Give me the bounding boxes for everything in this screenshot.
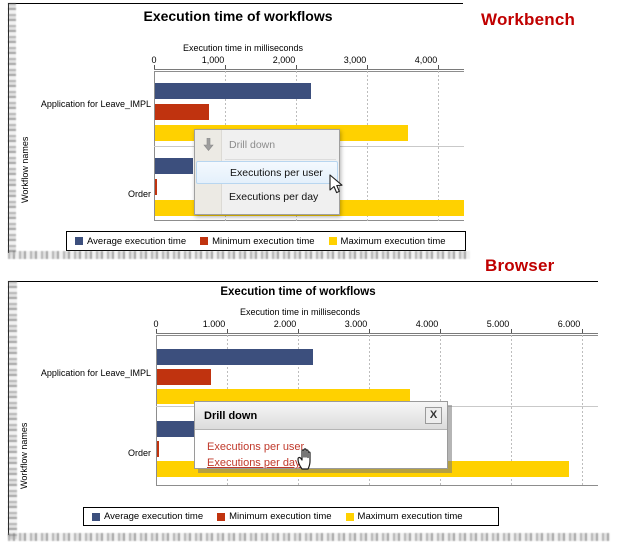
dialog-header: Drill down X xyxy=(195,402,447,430)
x-tick-label: 3,000 xyxy=(335,55,375,65)
drill-down-dialog[interactable]: Drill down X Executions per user Executi… xyxy=(194,401,448,469)
legend-label: Maximum execution time xyxy=(358,511,463,522)
torn-bottom-edge xyxy=(8,533,610,541)
x-tick-label: 0 xyxy=(139,55,169,65)
bar-minimum-2[interactable] xyxy=(157,441,159,457)
x-tickmark xyxy=(296,65,297,69)
legend-item-average: Average execution time xyxy=(92,511,203,522)
bar-average-1[interactable] xyxy=(155,83,311,99)
x-tickmark xyxy=(367,65,368,69)
category-label: Application for Leave_IMPL xyxy=(18,99,151,109)
down-arrow-icon xyxy=(203,138,214,151)
workbench-panel: Execution time of workflows Execution ti… xyxy=(8,3,466,255)
x-tick-label: 1,000 xyxy=(193,55,233,65)
context-menu-item-executions-per-day[interactable]: Executions per day xyxy=(195,184,339,209)
x-tickmark xyxy=(298,329,299,333)
legend-swatch-icon xyxy=(329,237,337,245)
context-menu-item-executions-per-user[interactable]: Executions per user xyxy=(196,161,338,184)
context-menu-label: Executions per user xyxy=(230,167,323,179)
torn-bottom-edge xyxy=(8,251,470,259)
drill-down-context-menu[interactable]: Drill down Executions per user Execution… xyxy=(194,129,340,215)
bar-average-2[interactable] xyxy=(157,421,195,437)
workbench-caption: Workbench xyxy=(481,10,575,30)
chart-legend: Average execution time Minimum execution… xyxy=(66,231,466,251)
chart-title: Execution time of workflows xyxy=(38,8,438,24)
torn-right-edge xyxy=(8,281,17,539)
chart-legend: Average execution time Minimum execution… xyxy=(83,507,499,526)
dialog-title: Drill down xyxy=(204,410,257,422)
legend-item-average: Average execution time xyxy=(75,236,186,247)
link-executions-per-user[interactable]: Executions per user xyxy=(207,439,447,455)
bar-minimum-1[interactable] xyxy=(155,104,209,120)
gridline xyxy=(582,335,583,486)
x-tick-label: 6.000 xyxy=(549,319,589,329)
link-executions-per-day[interactable]: Executions per day xyxy=(207,455,447,471)
legend-swatch-icon xyxy=(217,513,225,521)
x-tickmark xyxy=(440,329,441,333)
x-tick-label: 0 xyxy=(141,319,171,329)
legend-item-minimum: Minimum execution time xyxy=(200,236,314,247)
close-icon[interactable]: X xyxy=(425,407,442,424)
x-tickmark xyxy=(154,65,155,69)
legend-item-maximum: Maximum execution time xyxy=(346,511,463,522)
x-tickmark xyxy=(225,65,226,69)
legend-swatch-icon xyxy=(200,237,208,245)
x-tickmark xyxy=(511,329,512,333)
x-tick-label: 2,000 xyxy=(264,55,304,65)
category-label: Application for Leave_IMPL xyxy=(16,368,151,378)
torn-right-edge xyxy=(8,3,16,255)
context-menu-label: Executions per day xyxy=(229,191,318,203)
x-axis-line xyxy=(156,333,598,334)
context-menu-item-drill-down: Drill down xyxy=(195,132,339,157)
legend-item-minimum: Minimum execution time xyxy=(217,511,331,522)
x-axis-title: Execution time in milliseconds xyxy=(183,43,303,53)
category-label: Order xyxy=(18,189,151,199)
x-tick-label: 4.000 xyxy=(407,319,447,329)
category-label: Order xyxy=(16,448,151,458)
x-tickmark xyxy=(582,329,583,333)
browser-panel: Execution time of workflows Execution ti… xyxy=(8,281,610,539)
browser-caption: Browser xyxy=(485,256,554,276)
bar-minimum-2[interactable] xyxy=(155,179,157,195)
legend-swatch-icon xyxy=(346,513,354,521)
x-tick-label: 1.000 xyxy=(194,319,234,329)
legend-label: Maximum execution time xyxy=(341,236,446,247)
x-tick-label: 3.000 xyxy=(336,319,376,329)
legend-label: Minimum execution time xyxy=(212,236,314,247)
dialog-body: Executions per user Executions per day xyxy=(195,430,447,477)
legend-swatch-icon xyxy=(75,237,83,245)
x-tick-label: 4,000 xyxy=(406,55,446,65)
x-tickmark xyxy=(156,329,157,333)
x-tick-label: 5.000 xyxy=(478,319,518,329)
bar-average-2[interactable] xyxy=(155,158,193,174)
bar-average-1[interactable] xyxy=(157,349,313,365)
x-axis-title: Execution time in milliseconds xyxy=(240,307,360,317)
context-menu-label: Drill down xyxy=(229,139,275,151)
bar-minimum-1[interactable] xyxy=(157,369,211,385)
chart-title: Execution time of workflows xyxy=(28,286,568,298)
legend-item-maximum: Maximum execution time xyxy=(329,236,446,247)
legend-label: Average execution time xyxy=(104,511,203,522)
legend-swatch-icon xyxy=(92,513,100,521)
legend-label: Average execution time xyxy=(87,236,186,247)
legend-label: Minimum execution time xyxy=(229,511,331,522)
x-axis-line xyxy=(154,69,464,70)
context-menu-separator xyxy=(225,159,336,160)
x-tickmark xyxy=(438,65,439,69)
x-tick-label: 2.000 xyxy=(265,319,305,329)
x-tickmark xyxy=(369,329,370,333)
x-tickmark xyxy=(227,329,228,333)
